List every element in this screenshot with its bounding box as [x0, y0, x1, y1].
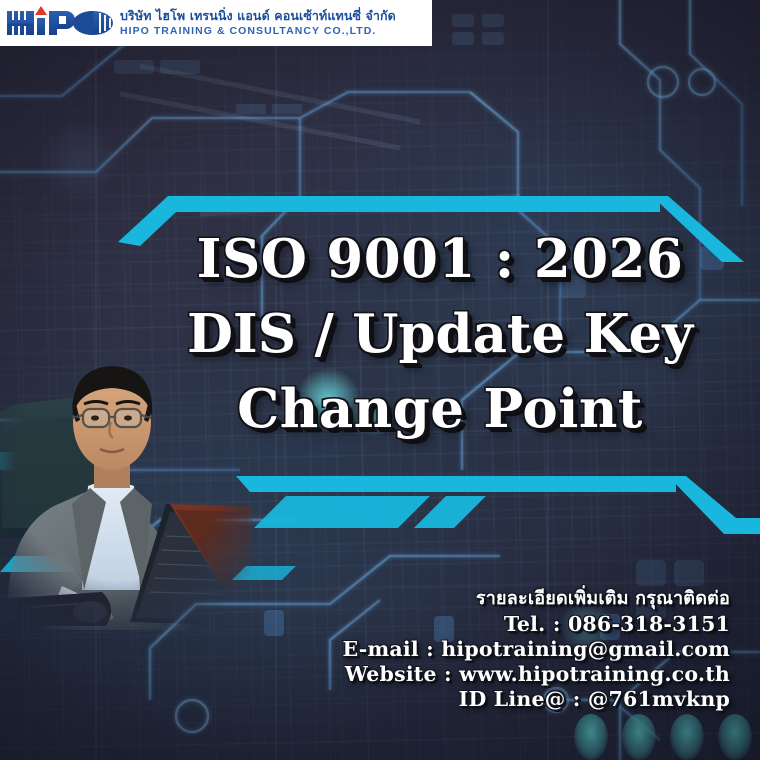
title-line-2: DIS / Update Key [150, 297, 730, 372]
contact-website[interactable]: Website : www.hipotraining.co.th [210, 662, 730, 687]
poster-title: ISO 9001 : 2026 DIS / Update Key Change … [150, 222, 730, 447]
contact-email[interactable]: E-mail : hipotraining@gmail.com [210, 637, 730, 662]
company-name-thai: บริษัท ไฮโพ เทรนนิ่ง แอนด์ คอนเซ้าท์แทนซ… [120, 10, 396, 23]
company-name-english: HIPO TRAINING & CONSULTANCY CO.,LTD. [120, 26, 396, 37]
company-names: บริษัท ไฮโพ เทรนนิ่ง แอนด์ คอนเซ้าท์แทนซ… [120, 10, 396, 36]
contact-heading-thai: รายละเอียดเพิ่มเติม กรุณาติดต่อ [210, 585, 730, 612]
contact-line-id[interactable]: ID Line@ : @761mvknp [210, 687, 730, 712]
contact-block: รายละเอียดเพิ่มเติม กรุณาติดต่อ Tel. : 0… [210, 585, 730, 712]
contact-telephone[interactable]: Tel. : 086-318-3151 [210, 612, 730, 637]
hipo-logo-icon [6, 6, 114, 40]
promotional-poster: บริษัท ไฮโพ เทรนนิ่ง แอนด์ คอนเซ้าท์แทนซ… [0, 0, 760, 760]
title-line-3: Change Point [150, 372, 730, 447]
logo-header-band: บริษัท ไฮโพ เทรนนิ่ง แอนด์ คอนเซ้าท์แทนซ… [0, 0, 432, 46]
title-line-1: ISO 9001 : 2026 [150, 222, 730, 297]
